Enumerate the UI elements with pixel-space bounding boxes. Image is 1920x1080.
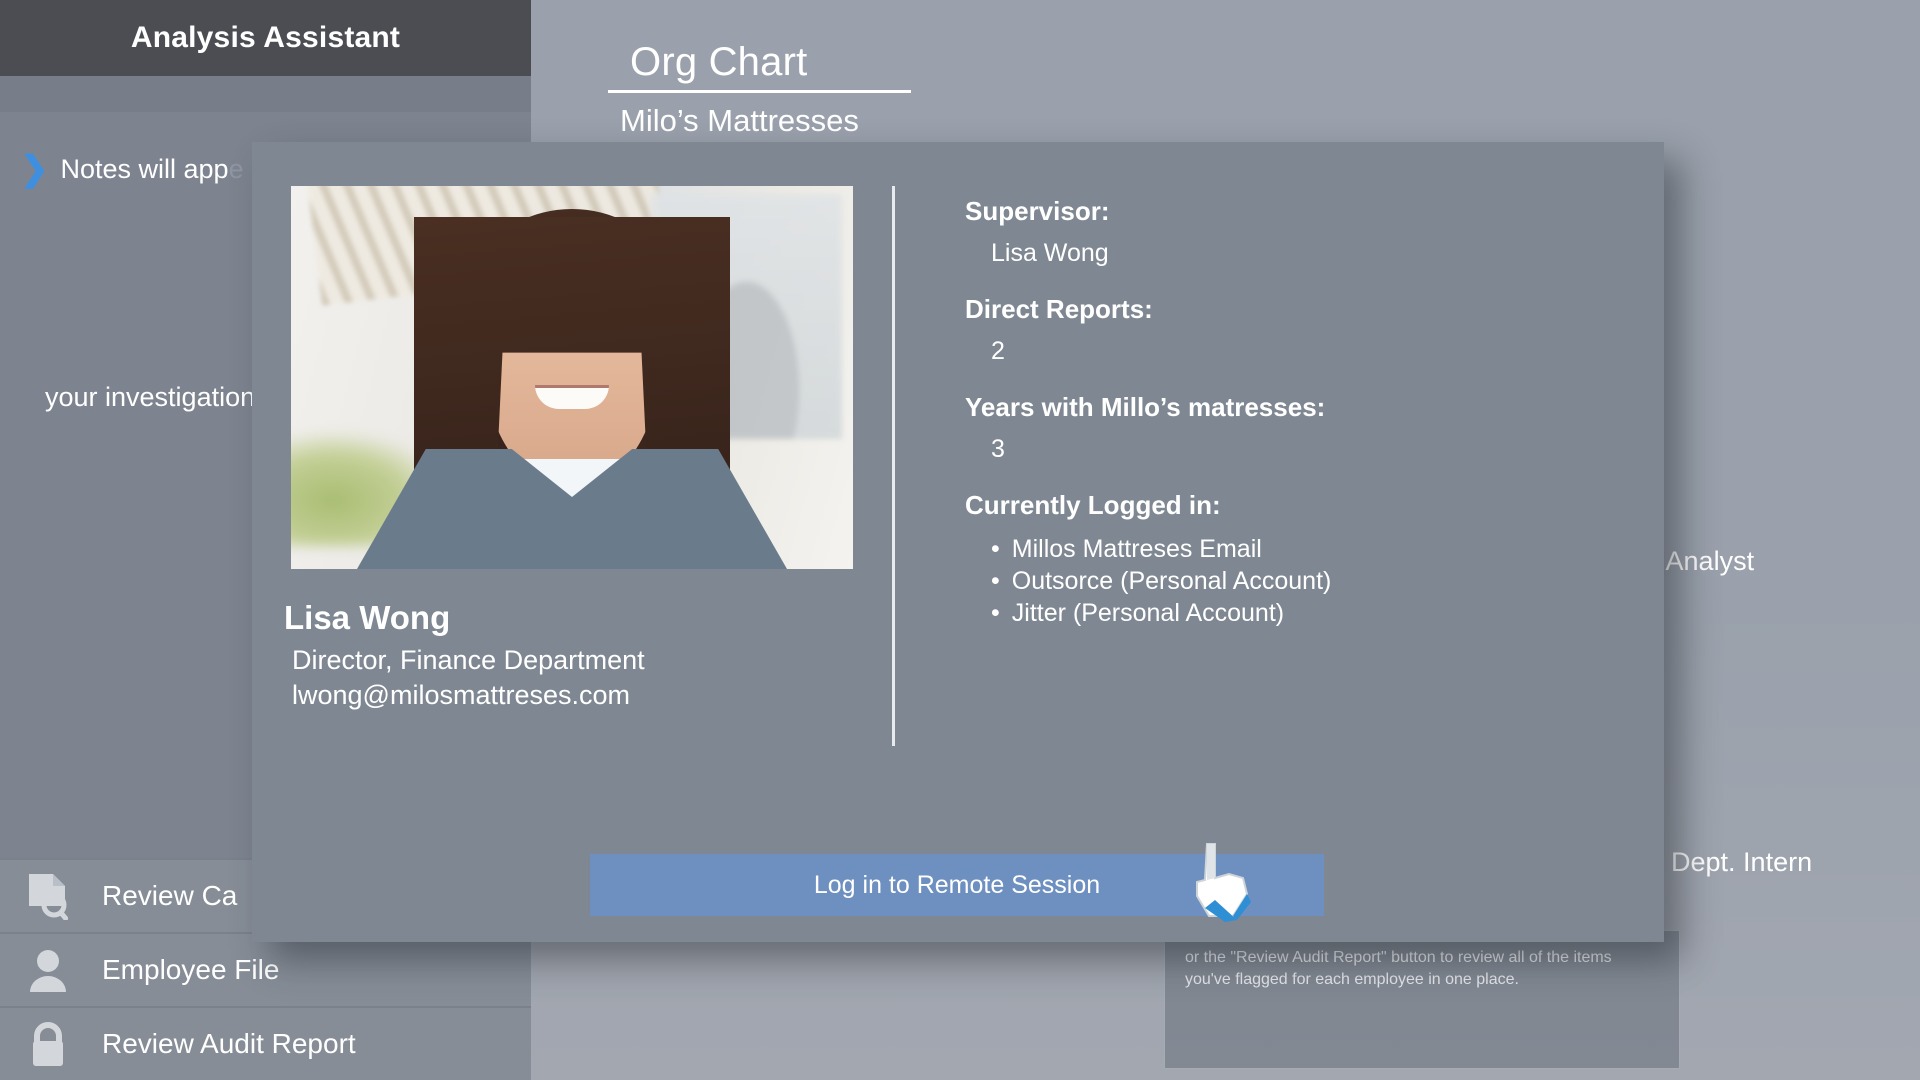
modal-right-column: Supervisor: Lisa Wong Direct Reports: 2 … [895,186,1664,742]
field-label-direct-reports: Direct Reports: [965,294,1664,325]
field-label-supervisor: Supervisor: [965,196,1664,227]
app-title: Analysis Assistant [131,21,400,55]
field-value-years: 3 [965,435,1664,464]
modal-left-column: Lisa Wong Director, Finance Department l… [252,186,892,742]
field-value-supervisor: Lisa Wong [965,239,1664,268]
mouse-cursor-pointer-icon [1185,838,1269,922]
notes-hint-label: Notes will appe [61,154,244,185]
employee-name: Lisa Wong [284,599,892,637]
sidebar-item-employee-file[interactable]: Employee File [0,932,531,1006]
screen: Org Chart Milo’s Mattresses cial Analyst… [0,0,1920,1080]
sidebar-toolbar-strip [0,76,531,112]
org-chart-header: Org Chart Milo’s Mattresses [608,40,908,139]
instructions-text: or the "Review Audit Report" button to r… [1185,947,1659,990]
title-underline [608,90,911,93]
document-search-icon [22,870,74,922]
list-item: Jitter (Personal Account) [991,597,1664,629]
lock-icon [22,1018,74,1070]
company-name: Milo’s Mattresses [608,103,908,139]
sidebar-header: Analysis Assistant [0,0,531,76]
employee-detail-modal: Lisa Wong Director, Finance Department l… [252,142,1664,942]
employee-email: lwong@milosmattreses.com [284,680,892,711]
chevron-right-icon: ❯ [20,152,49,186]
field-label-years: Years with Millo’s matresses: [965,392,1664,423]
page-title: Org Chart [608,40,908,85]
list-item: Millos Mattreses Email [991,533,1664,565]
notes-hint: ❯ Notes will appe [20,152,244,186]
list-item: Outsorce (Personal Account) [991,565,1664,597]
investigation-hint: your investigation [45,382,255,413]
person-icon [22,944,74,996]
employee-role: Director, Finance Department [284,645,892,676]
sidebar-item-label: Employee File [102,954,279,986]
employee-identity: Lisa Wong Director, Finance Department l… [252,599,892,711]
logged-in-accounts-list: Millos Mattreses Email Outsorce (Persona… [965,533,1664,629]
sidebar-item-label: Review Audit Report [102,1028,356,1060]
instructions-panel: or the "Review Audit Report" button to r… [1165,931,1679,1068]
field-label-logged-in: Currently Logged in: [965,490,1664,521]
sidebar-item-label: Review Ca [102,880,237,912]
modal-content: Lisa Wong Director, Finance Department l… [252,142,1664,742]
sidebar-item-review-audit-report[interactable]: Review Audit Report [0,1006,531,1080]
field-value-direct-reports: 2 [965,337,1664,366]
employee-photo [291,186,853,569]
